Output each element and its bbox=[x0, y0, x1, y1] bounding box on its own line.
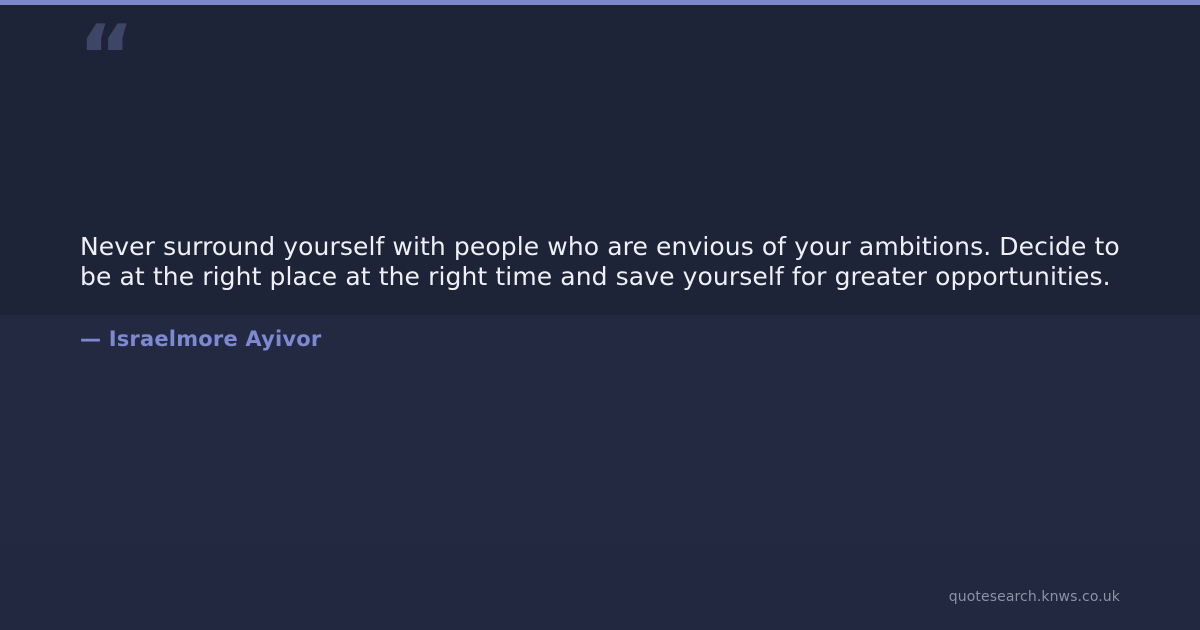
quote-content: Never surround yourself with people who … bbox=[80, 232, 1125, 352]
quote-text: Never surround yourself with people who … bbox=[80, 232, 1125, 292]
quotation-mark-icon: “ bbox=[78, 14, 133, 100]
top-accent-bar bbox=[0, 0, 1200, 5]
quote-author: — Israelmore Ayivor bbox=[80, 292, 1125, 352]
source-url-label: quotesearch.knws.co.uk bbox=[949, 588, 1120, 606]
quote-card: “ Never surround yourself with people wh… bbox=[0, 0, 1200, 630]
